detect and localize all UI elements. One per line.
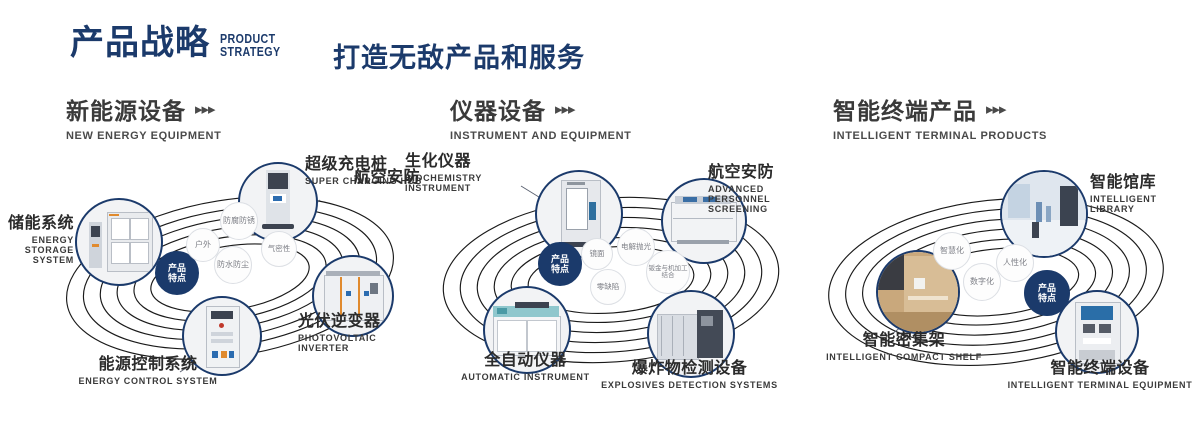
caption-en: INTELLIGENT LIBRARY	[1090, 194, 1200, 214]
bubble-feature-digital[interactable]: 数字化	[963, 263, 1001, 301]
bubble-label: 零缺陷	[597, 283, 620, 292]
bubble-line2: 特点	[551, 264, 569, 274]
caption-photovoltaic-inverter: 光伏逆变器 PHOTOVOLTAIC INVERTER	[298, 313, 430, 353]
caption-en: INTELLIGENT COMPACT SHELF	[814, 352, 994, 362]
bubble-line2: 特点	[1038, 293, 1056, 303]
caption-explosives-detection: 爆炸物检测设备 EXPLOSIVES DETECTION SYSTEMS	[597, 360, 782, 390]
bubble-label: 气密性	[268, 245, 291, 254]
bubble-product-features[interactable]: 产品 特点	[1024, 270, 1070, 316]
caption-aviation-security-left: 航空安防	[310, 169, 420, 187]
caption-cn: 智能馆库	[1090, 174, 1200, 192]
caption-cn: 光伏逆变器	[298, 313, 430, 331]
caption-cn: 能源控制系统	[68, 356, 228, 374]
section-title-en: INSTRUMENT AND EQUIPMENT	[450, 130, 631, 142]
caption-intelligent-library: 智能馆库 INTELLIGENT LIBRARY	[1090, 174, 1200, 214]
chevron-right-icon: ▸▸▸	[195, 100, 215, 118]
page-title-en: PRODUCT STRATEGY	[220, 32, 281, 59]
bubble-product-features[interactable]: 产品 特点	[538, 242, 582, 286]
caption-intelligent-terminal-equipment: 智能终端设备 INTELLIGENT TERMINAL EQUIPMENT	[1007, 360, 1193, 390]
section-title-cn: 新能源设备	[66, 92, 186, 126]
bubble-label: 人性化	[1003, 258, 1027, 267]
chevron-right-icon: ▸▸▸	[986, 100, 1006, 118]
section-title-en: INTELLIGENT TERMINAL PRODUCTS	[833, 130, 1047, 142]
bubble-label: 户外	[195, 240, 211, 249]
chevron-right-icon: ▸▸▸	[555, 100, 575, 118]
caption-cn: 智能密集架	[814, 332, 994, 350]
bubble-feature-smart[interactable]: 智慧化	[933, 232, 971, 270]
cluster-instrument: 生化仪器 BIOCHEMISTRY INSTRUMENT 航空安防 航空安防 A…	[415, 150, 815, 410]
bubble-line1: 产品	[168, 263, 186, 273]
energy-storage-photo	[77, 200, 161, 284]
bubble-feature-anticorrosion[interactable]: 防腐防锈	[220, 202, 258, 240]
caption-cn: 储能系统	[0, 215, 74, 233]
caption-energy-storage: 储能系统 ENERGY STORAGE SYSTEM	[0, 215, 74, 265]
section-title-cn: 仪器设备	[450, 92, 546, 126]
bubble-label: 电解抛光	[621, 243, 651, 252]
cluster-intelligent-terminal: 智能馆库 INTELLIGENT LIBRARY 智能密集架 INTELLIGE…	[800, 150, 1200, 410]
cluster-new-energy: 储能系统 ENERGY STORAGE SYSTEM 超级充电桩 SUPER C…	[30, 150, 430, 410]
caption-cn: 智能终端设备	[1007, 360, 1193, 378]
bubble-label: 钣金与机加工结合	[647, 265, 689, 280]
caption-advanced-personnel-screening: 航空安防 ADVANCED PERSONNEL SCREENING	[708, 164, 800, 214]
section-title-cn: 智能终端产品	[833, 92, 977, 126]
bubble-line1: 产品	[1038, 283, 1056, 293]
section-heading-intelligent-terminal: 智能终端产品 ▸▸▸ INTELLIGENT TERMINAL PRODUCTS	[833, 92, 1047, 142]
bubble-feature-sheetmetal-machining[interactable]: 钣金与机加工结合	[646, 250, 690, 294]
bubble-feature-zero-defect[interactable]: 零缺陷	[590, 269, 626, 305]
section-heading-instrument: 仪器设备 ▸▸▸ INSTRUMENT AND EQUIPMENT	[450, 92, 631, 142]
bubble-feature-waterproof[interactable]: 防水防尘	[214, 246, 252, 284]
node-energy-storage[interactable]	[75, 198, 163, 286]
caption-en: INTELLIGENT TERMINAL EQUIPMENT	[1007, 380, 1193, 390]
caption-en: EXPLOSIVES DETECTION SYSTEMS	[597, 380, 782, 390]
page-title-en-line1: PRODUCT	[220, 32, 281, 45]
caption-en: ENERGY STORAGE SYSTEM	[0, 235, 74, 265]
bubble-label: 智慧化	[940, 246, 964, 255]
caption-cn: 全自动仪器	[438, 352, 613, 370]
bubble-label: 镜面	[590, 250, 605, 259]
page-title-en-line2: STRATEGY	[220, 45, 281, 58]
caption-en: PHOTOVOLTAIC INVERTER	[298, 333, 430, 353]
caption-cn: 航空安防	[310, 169, 420, 187]
caption-en: AUTOMATIC INSTRUMENT	[438, 372, 613, 382]
caption-intelligent-compact-shelf: 智能密集架 INTELLIGENT COMPACT SHELF	[814, 332, 994, 362]
bubble-label: 防腐防锈	[223, 216, 255, 225]
caption-energy-control-system: 能源控制系统 ENERGY CONTROL SYSTEM	[68, 356, 228, 386]
bubble-line1: 产品	[551, 254, 569, 264]
caption-en: ADVANCED PERSONNEL SCREENING	[708, 184, 800, 214]
caption-cn: 航空安防	[708, 164, 800, 182]
page-subtitle: 打造无敌产品和服务	[333, 36, 585, 75]
caption-en: ENERGY CONTROL SYSTEM	[68, 376, 228, 386]
bubble-feature-mirror[interactable]: 镜面	[581, 238, 613, 270]
section-heading-new-energy: 新能源设备 ▸▸▸ NEW ENERGY EQUIPMENT	[66, 92, 221, 142]
page-title-cn: 产品战略	[70, 26, 210, 60]
bubble-label: 数字化	[970, 277, 994, 286]
caption-cn: 爆炸物检测设备	[597, 360, 782, 378]
bubble-feature-humanized[interactable]: 人性化	[996, 244, 1034, 282]
section-title-en: NEW ENERGY EQUIPMENT	[66, 130, 221, 142]
caption-automatic-instrument: 全自动仪器 AUTOMATIC INSTRUMENT	[438, 352, 613, 382]
bubble-line2: 特点	[168, 273, 186, 283]
bubble-feature-airtight[interactable]: 气密性	[261, 231, 297, 267]
bubble-label: 防水防尘	[217, 260, 249, 269]
page-title: 产品战略 PRODUCT STRATEGY	[70, 26, 294, 60]
